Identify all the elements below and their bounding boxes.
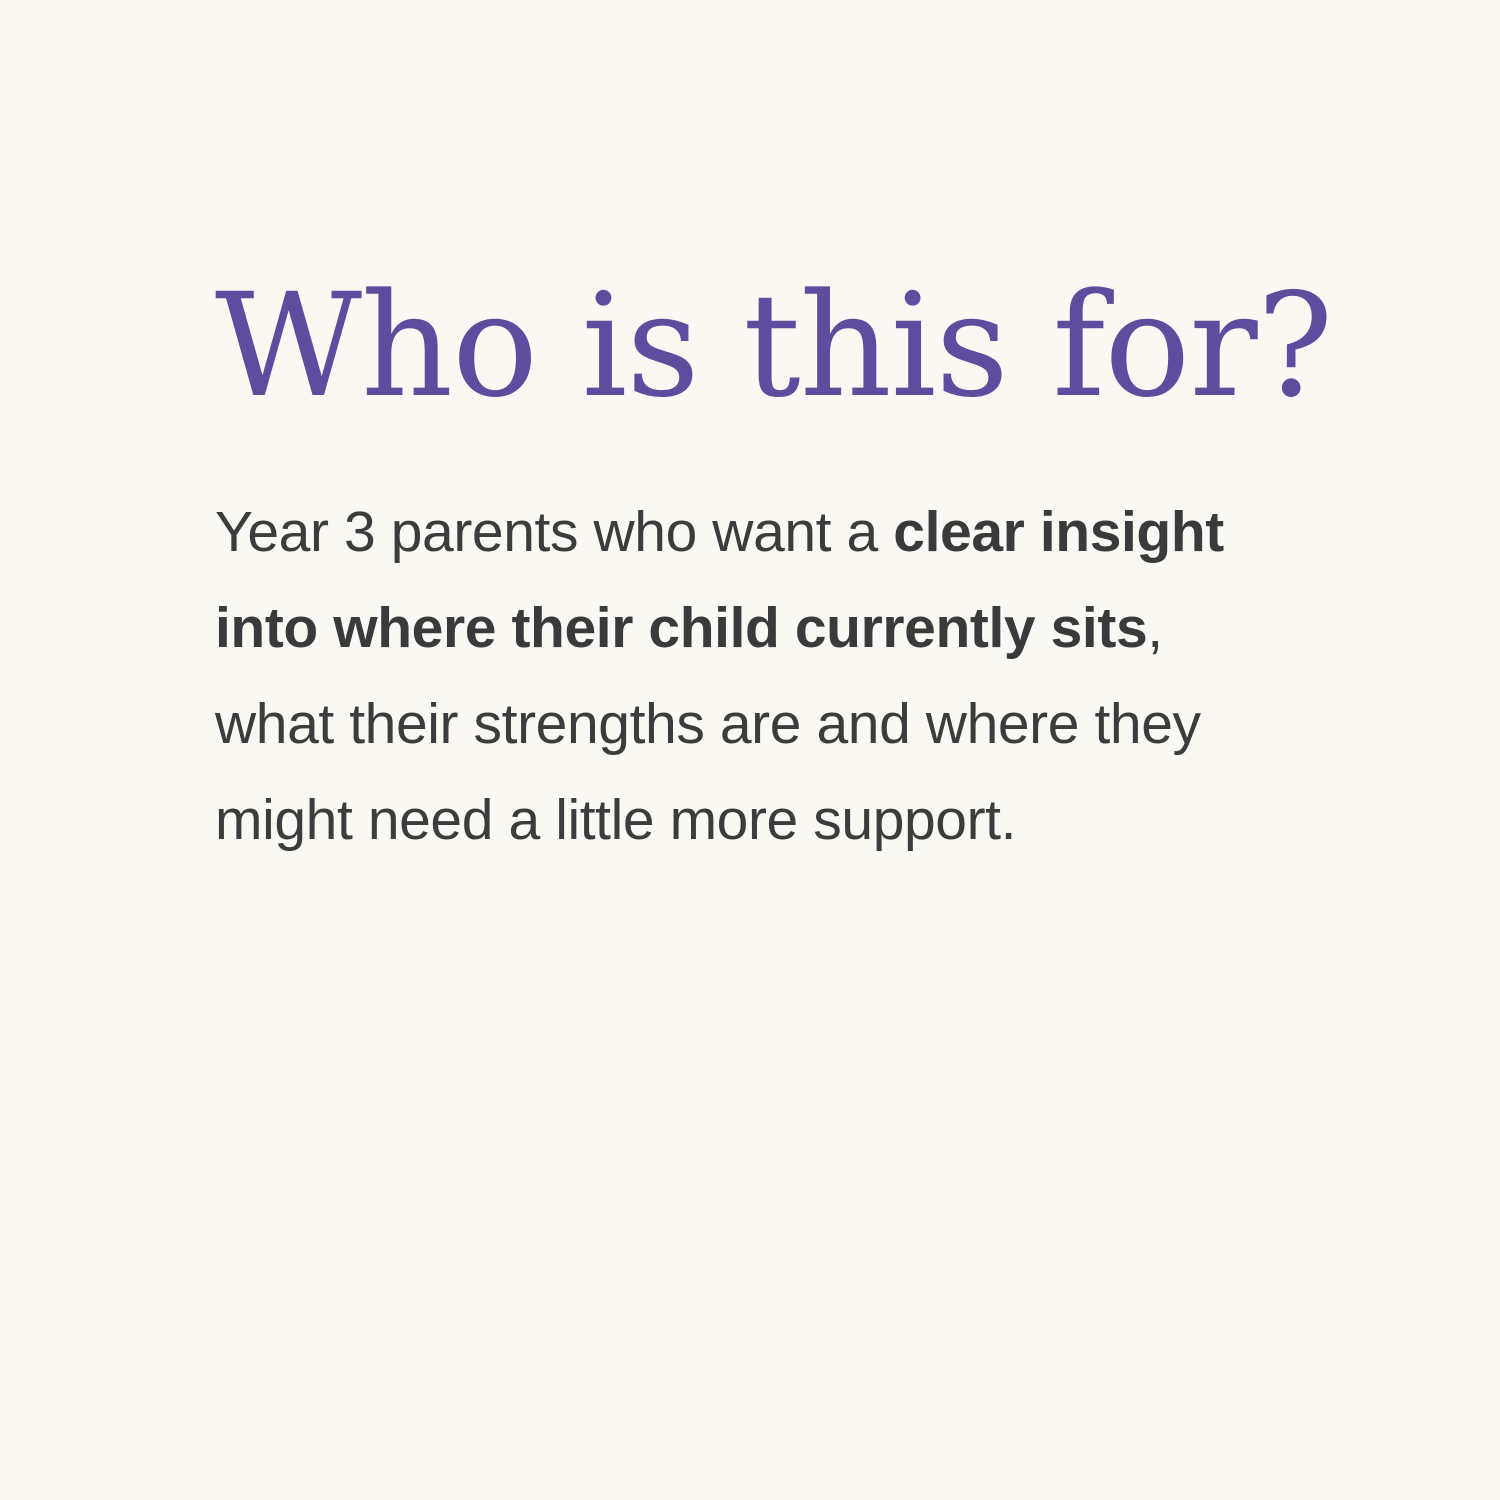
- content-block: Who is this for? Year 3 parents who want…: [215, 270, 1255, 868]
- body-paragraph: Year 3 parents who want a clear insight …: [215, 422, 1245, 868]
- body-text-lead: Year 3 parents who want a: [215, 500, 893, 564]
- page-title: Who is this for?: [215, 270, 1255, 422]
- slide-root: Who is this for? Year 3 parents who want…: [0, 0, 1500, 1500]
